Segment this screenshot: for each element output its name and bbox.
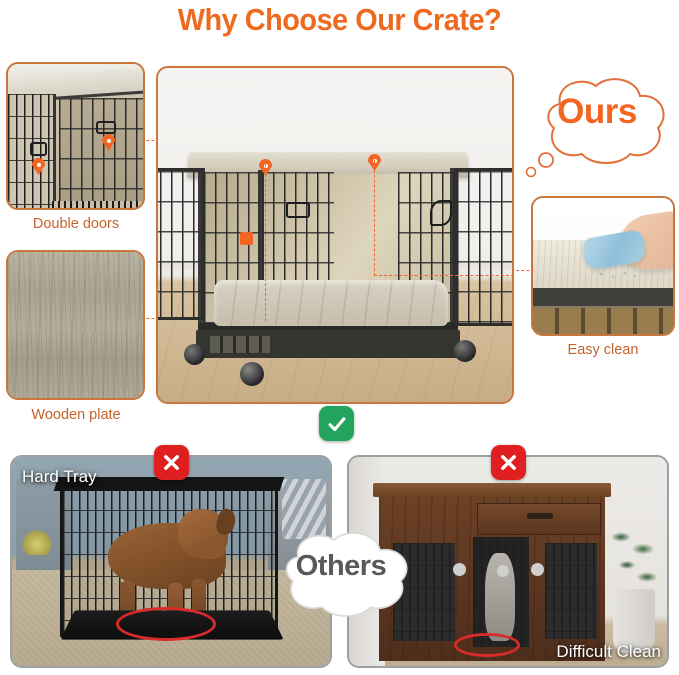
potted-plant-leaves [605, 519, 663, 595]
latch-hook-right [96, 121, 116, 134]
crate-bottom-edge [52, 201, 145, 208]
feature-panel-double-doors[interactable] [6, 62, 145, 210]
drawer-handle [527, 513, 553, 519]
rustic-door-right-mesh [545, 543, 597, 639]
crate-side-door-right [454, 168, 514, 326]
connector-internal-vertical-right [374, 160, 375, 276]
problem-highlight-ellipse [116, 607, 216, 641]
problem-highlight-ellipse [454, 633, 520, 657]
rustic-crate-drawer [477, 503, 601, 535]
caption-double-doors: Double doors [0, 216, 152, 232]
latch-center-flower [497, 565, 509, 577]
water-droplets [595, 270, 639, 280]
latch-upper [286, 202, 310, 218]
cross-icon [161, 452, 182, 473]
wooden-plate-swatch [8, 252, 143, 398]
front-panel-mesh [59, 98, 145, 210]
label-difficult-clean: Difficult Clean [556, 642, 661, 662]
latch-right-coil [430, 200, 452, 226]
side-door-left-mesh [156, 171, 201, 317]
check-icon [326, 413, 348, 435]
crate-cushion [214, 280, 448, 326]
label-hard-tray: Hard Tray [22, 467, 97, 487]
caster-front-mid [240, 362, 264, 386]
others-bubble-label: Others [276, 536, 406, 596]
dog-snout [198, 539, 226, 559]
cross-icon [498, 452, 519, 473]
connector-internal-horizontal [374, 275, 514, 276]
pin-marker-side-latch [240, 232, 253, 245]
rustic-crate-top [373, 483, 611, 497]
latch-right-flower [531, 563, 544, 576]
door-right-wires [545, 543, 597, 639]
shelf-plant [22, 529, 52, 555]
woven-basket-row [533, 308, 675, 334]
main-product-panel[interactable] [156, 66, 514, 404]
crate-front-panel [59, 98, 145, 210]
page-title: Why Choose Our Crate? [24, 2, 655, 38]
connector-internal-vertical-left [265, 164, 266, 321]
crate-base-slats [210, 336, 270, 353]
feature-panel-easy-clean[interactable] [531, 196, 675, 336]
cross-badge-difficult-clean [491, 445, 526, 480]
feature-panel-wooden-plate[interactable] [6, 250, 145, 400]
caption-wooden-plate: Wooden plate [0, 407, 152, 423]
tabletop-edge-band [533, 288, 675, 306]
latch-left-flower [453, 563, 466, 576]
infographic-root: Why Choose Our Crate? Double doors Woode… [0, 0, 679, 675]
latch-hook-left [30, 142, 47, 156]
cross-badge-hard-tray [154, 445, 189, 480]
check-badge [319, 406, 354, 441]
caster-front-left [184, 344, 205, 365]
side-door-right-mesh [457, 171, 513, 323]
caster-back-right [454, 340, 476, 362]
caption-easy-clean: Easy clean [531, 342, 675, 358]
ours-bubble-label: Ours [536, 82, 658, 142]
crate-side-door-left [156, 168, 204, 320]
